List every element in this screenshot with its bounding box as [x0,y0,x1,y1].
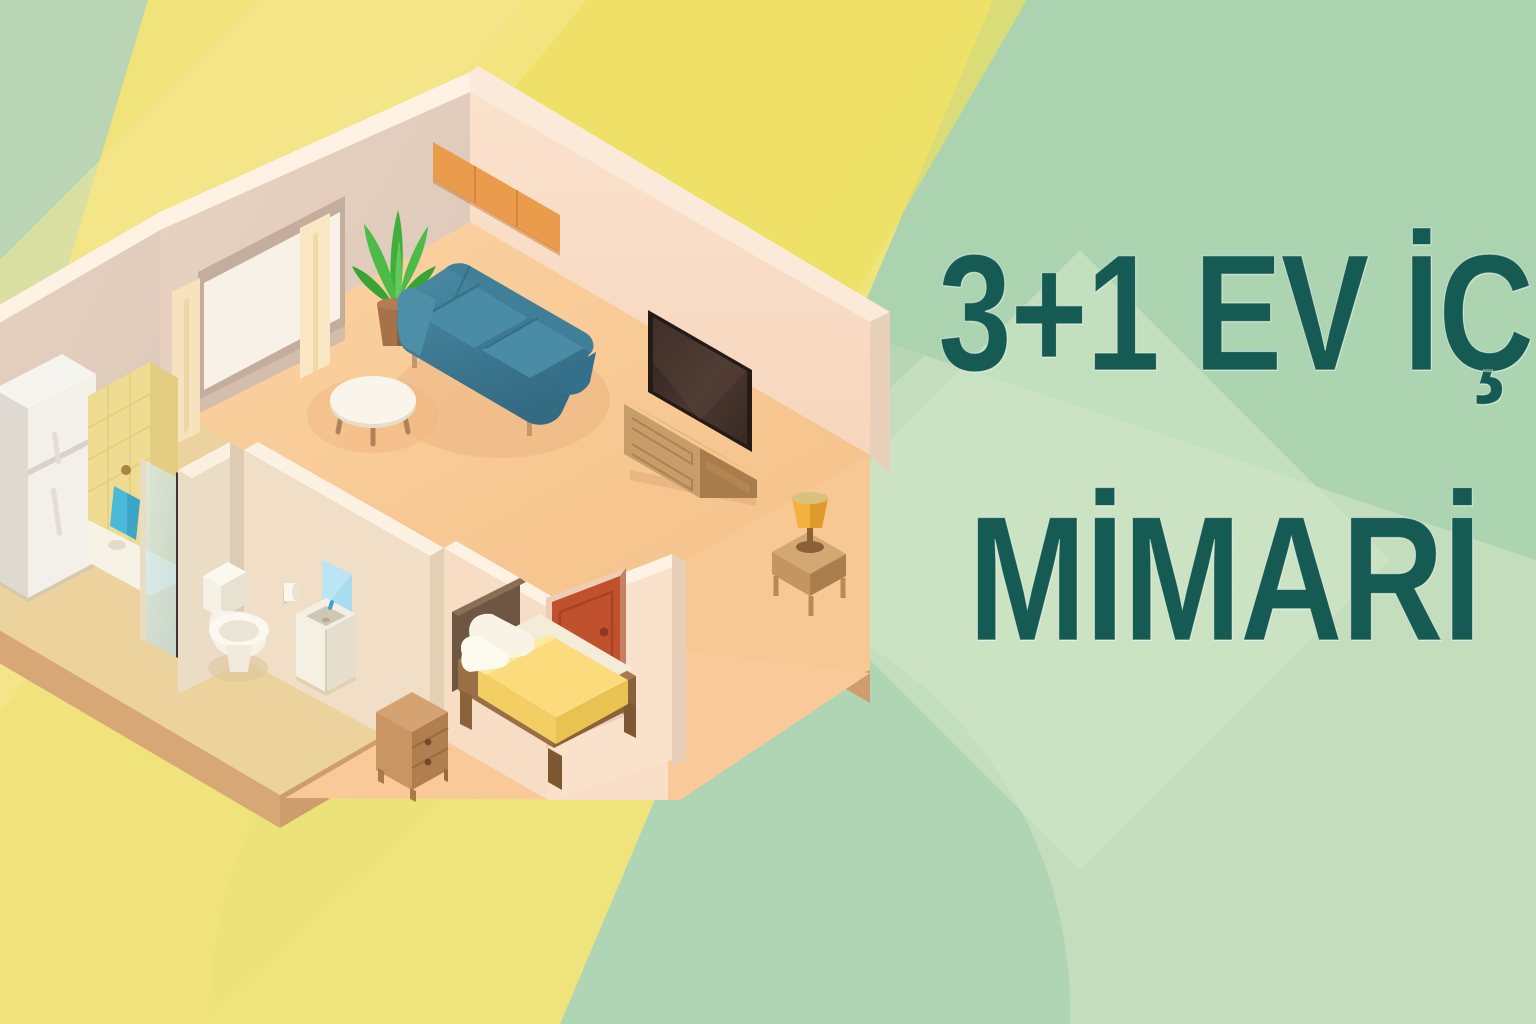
curtain-left-fold [184,297,189,433]
door-knob [600,628,609,637]
sink-drain [322,618,330,623]
curtain-right-fold [313,232,318,373]
bedroom-wall-right-edge [672,554,686,766]
toilet-pedestal [226,645,252,672]
fridge-front [28,374,96,598]
isometric-apartment-illustration [0,0,1536,1024]
toilet-seat-hole [219,620,259,642]
fridge-left [0,389,28,598]
shower-drain [108,540,126,550]
lamp-shade-rim [792,492,828,504]
poster-canvas: 3+1 EV İÇ MİMARİ [0,0,1536,1024]
refrigerator [0,354,96,602]
tp-roll-end [292,583,300,601]
shower-door-edge [140,458,146,641]
shower-knob [121,465,131,475]
hall-wall-stub [430,548,444,760]
table-top [330,376,416,424]
